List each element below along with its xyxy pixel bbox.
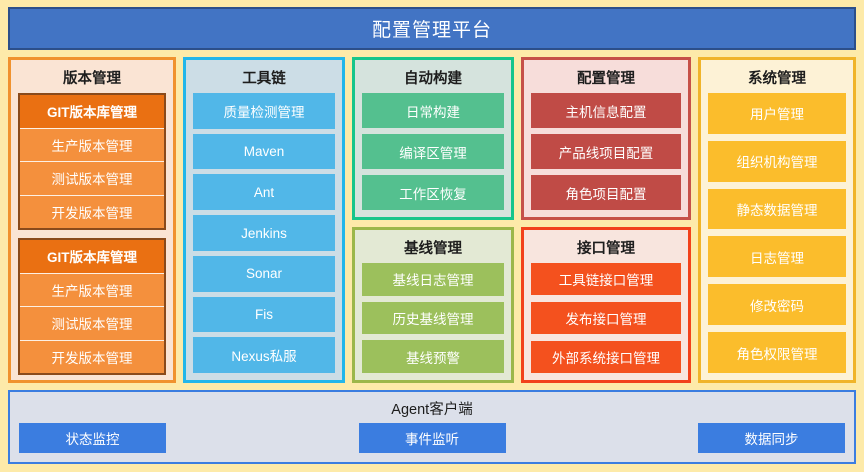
panel-title-auto-build: 自动构建 [362, 64, 504, 93]
panel-version-management: 版本管理 GIT版本库管理 生产版本管理 测试版本管理 开发版本管理 GIT版本… [8, 57, 176, 383]
status-monitor-button[interactable]: 状态监控 [19, 423, 166, 453]
panel-body-config-management: 主机信息配置 产品线项目配置 角色项目配置 [531, 93, 681, 210]
panel-columns: 版本管理 GIT版本库管理 生产版本管理 测试版本管理 开发版本管理 GIT版本… [8, 57, 856, 383]
list-item[interactable]: 测试版本管理 [20, 307, 164, 341]
panel-interface-management: 接口管理 工具链接口管理 发布接口管理 外部系统接口管理 [521, 227, 691, 383]
column-build-baseline: 自动构建 日常构建 编译区管理 工作区恢复 基线管理 基线日志管理 历史基线管理… [352, 57, 514, 383]
list-item[interactable]: 修改密码 [708, 284, 846, 325]
list-item[interactable]: 基线日志管理 [362, 263, 504, 296]
column-config-interface: 配置管理 主机信息配置 产品线项目配置 角色项目配置 接口管理 工具链接口管理 … [521, 57, 691, 383]
panel-auto-build: 自动构建 日常构建 编译区管理 工作区恢复 [352, 57, 514, 220]
column-version-management: 版本管理 GIT版本库管理 生产版本管理 测试版本管理 开发版本管理 GIT版本… [8, 57, 176, 383]
list-item[interactable]: 测试版本管理 [20, 162, 164, 196]
panel-body-baseline-management: 基线日志管理 历史基线管理 基线预警 [362, 263, 504, 373]
panel-body-system-management: 用户管理 组织机构管理 静态数据管理 日志管理 修改密码 角色权限管理 [708, 93, 846, 373]
version-group-2: GIT版本库管理 生产版本管理 测试版本管理 开发版本管理 [18, 238, 166, 375]
list-item[interactable]: 编译区管理 [362, 134, 504, 169]
panel-baseline-management: 基线管理 基线日志管理 历史基线管理 基线预警 [352, 227, 514, 383]
list-item[interactable]: 组织机构管理 [708, 141, 846, 182]
list-item[interactable]: Jenkins [193, 215, 335, 251]
list-item[interactable]: 工作区恢复 [362, 175, 504, 210]
column-system-management: 系统管理 用户管理 组织机构管理 静态数据管理 日志管理 修改密码 角色权限管理 [698, 57, 856, 383]
list-item[interactable]: 开发版本管理 [20, 196, 164, 229]
app-root: 配置管理平台 版本管理 GIT版本库管理 生产版本管理 测试版本管理 开发版本管… [0, 0, 864, 472]
agent-button-group: 状态监控 事件监听 数据同步 [19, 423, 845, 453]
panel-body-interface-management: 工具链接口管理 发布接口管理 外部系统接口管理 [531, 263, 681, 373]
list-item[interactable]: 角色项目配置 [531, 175, 681, 210]
list-item[interactable]: 开发版本管理 [20, 341, 164, 374]
list-item[interactable]: 用户管理 [708, 93, 846, 134]
list-item[interactable]: GIT版本库管理 [20, 95, 164, 129]
panel-toolchain: 工具链 质量检测管理 Maven Ant Jenkins Sonar Fis N… [183, 57, 345, 383]
list-item[interactable]: 生产版本管理 [20, 274, 164, 308]
panel-body-version-management: GIT版本库管理 生产版本管理 测试版本管理 开发版本管理 GIT版本库管理 生… [18, 93, 166, 375]
agent-client-title: Agent客户端 [19, 396, 845, 423]
panel-body-toolchain: 质量检测管理 Maven Ant Jenkins Sonar Fis Nexus… [193, 93, 335, 373]
panel-title-system-management: 系统管理 [708, 64, 846, 93]
list-item[interactable]: 静态数据管理 [708, 189, 846, 230]
data-sync-button[interactable]: 数据同步 [698, 423, 845, 453]
list-item[interactable]: 生产版本管理 [20, 129, 164, 163]
list-item[interactable]: Maven [193, 134, 335, 170]
list-item[interactable]: 外部系统接口管理 [531, 341, 681, 373]
panel-body-auto-build: 日常构建 编译区管理 工作区恢复 [362, 93, 504, 210]
page-title: 配置管理平台 [8, 7, 856, 50]
column-toolchain: 工具链 质量检测管理 Maven Ant Jenkins Sonar Fis N… [183, 57, 345, 383]
panel-title-toolchain: 工具链 [193, 64, 335, 93]
list-item[interactable]: 角色权限管理 [708, 332, 846, 373]
panel-config-management: 配置管理 主机信息配置 产品线项目配置 角色项目配置 [521, 57, 691, 220]
list-item[interactable]: 工具链接口管理 [531, 263, 681, 295]
agent-client-bar: Agent客户端 状态监控 事件监听 数据同步 [8, 390, 856, 464]
list-item[interactable]: Nexus私服 [193, 337, 335, 373]
version-group-1: GIT版本库管理 生产版本管理 测试版本管理 开发版本管理 [18, 93, 166, 230]
list-item[interactable]: Ant [193, 174, 335, 210]
list-item[interactable]: 主机信息配置 [531, 93, 681, 128]
panel-title-interface-management: 接口管理 [531, 234, 681, 263]
list-item[interactable]: 日志管理 [708, 236, 846, 277]
event-listener-button[interactable]: 事件监听 [359, 423, 506, 453]
list-item[interactable]: 发布接口管理 [531, 302, 681, 334]
panel-title-config-management: 配置管理 [531, 64, 681, 93]
list-item[interactable]: GIT版本库管理 [20, 240, 164, 274]
list-item[interactable]: 产品线项目配置 [531, 134, 681, 169]
list-item[interactable]: 基线预警 [362, 340, 504, 373]
panel-title-version-management: 版本管理 [18, 64, 166, 93]
panel-system-management: 系统管理 用户管理 组织机构管理 静态数据管理 日志管理 修改密码 角色权限管理 [698, 57, 856, 383]
list-item[interactable]: Fis [193, 297, 335, 333]
list-item[interactable]: Sonar [193, 256, 335, 292]
list-item[interactable]: 历史基线管理 [362, 302, 504, 335]
list-item[interactable]: 日常构建 [362, 93, 504, 128]
list-item[interactable]: 质量检测管理 [193, 93, 335, 129]
panel-title-baseline-management: 基线管理 [362, 234, 504, 263]
